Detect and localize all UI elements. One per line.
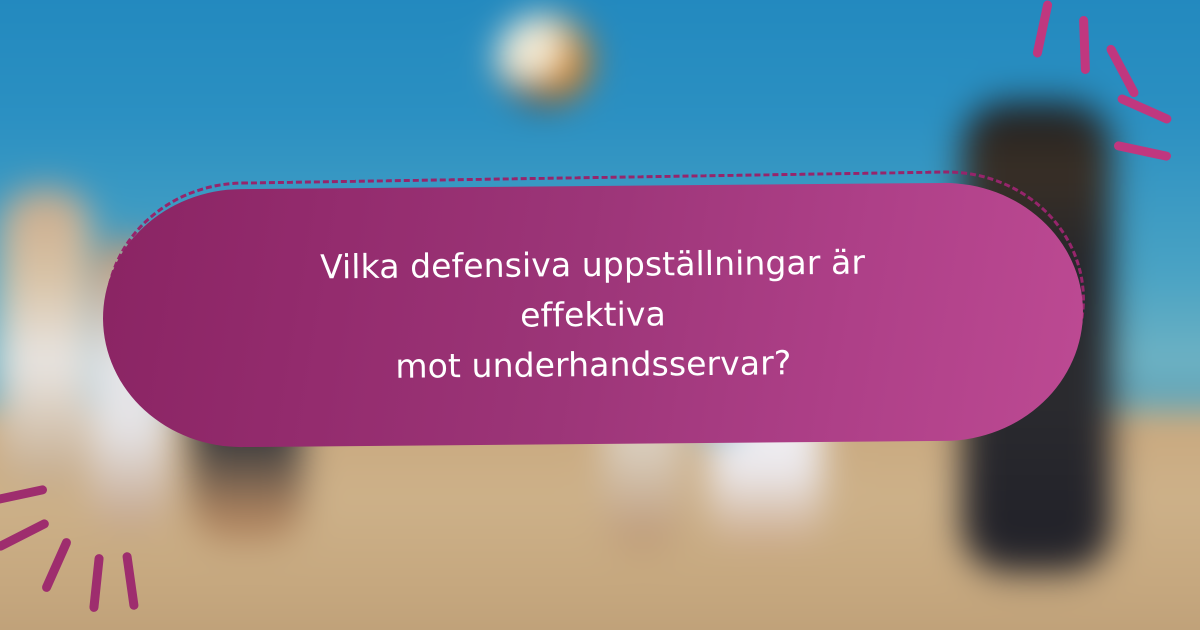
title-line-2: mot underhandsservar? [243,337,943,393]
burst-dash [0,518,50,552]
card-body: Vilka defensiva uppställningar är effekt… [102,182,1084,449]
title-line-1: Vilka defensiva uppställningar är effekt… [242,237,943,343]
burst-dash [1116,93,1173,125]
quote-card-canvas: Vilka defensiva uppställningar är effekt… [0,0,1200,630]
volleyball-icon [496,14,592,106]
page-title: Vilka defensiva uppställningar är effekt… [202,236,983,393]
player-silhouette-far-left [0,188,92,488]
burst-dash [89,554,104,613]
burst-dash [41,537,73,594]
burst-top-right [1014,0,1200,184]
burst-dash [0,485,48,506]
burst-dash [1032,0,1053,58]
burst-dash [1079,16,1090,74]
burst-dash [122,552,139,611]
burst-bottom-left [0,444,184,630]
burst-dash [1105,43,1140,98]
burst-dash [1113,141,1172,162]
quote-card: Vilka defensiva uppställningar är effekt… [103,186,1083,444]
